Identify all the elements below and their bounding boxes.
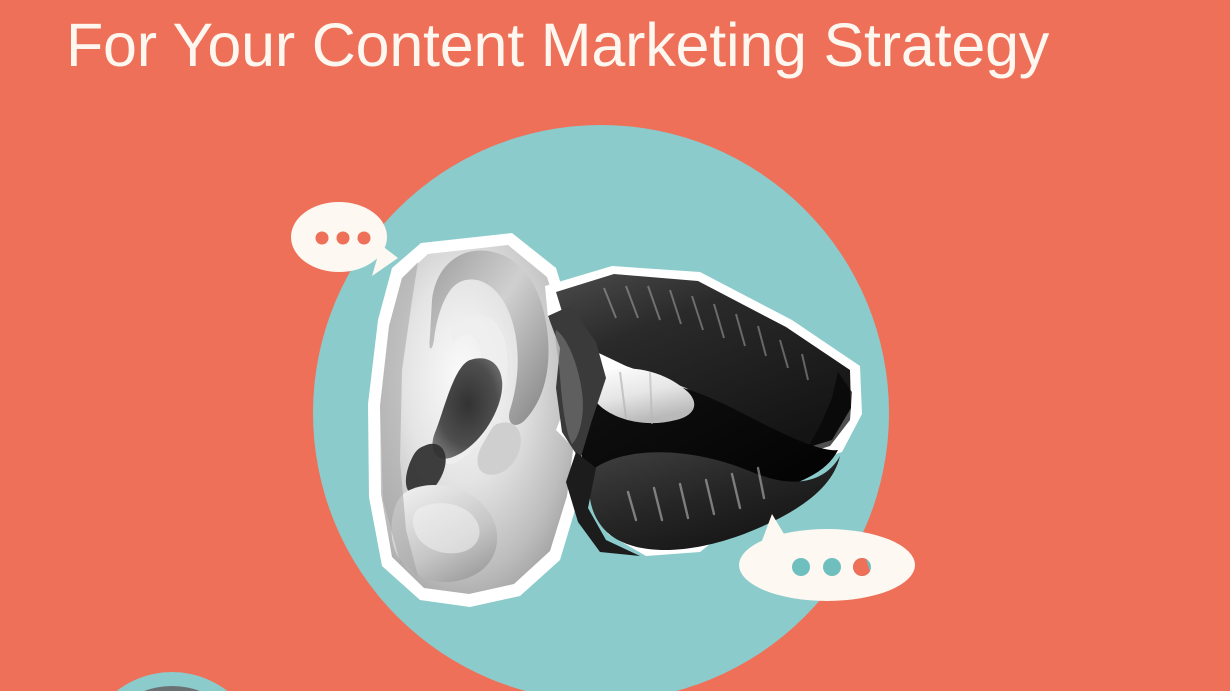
speech-dot [337,232,350,245]
speech-dot [358,232,371,245]
partial-circle-bottom-left [82,672,262,691]
poster-canvas: For Your Content Marketing Strategy [0,0,1230,691]
speech-bubble-top-left [291,202,398,276]
speech-dot [823,558,841,576]
page-title: For Your Content Marketing Strategy [66,9,1049,81]
speech-dot [316,232,329,245]
illustration-stage [0,0,1230,691]
speech-dot [792,558,810,576]
